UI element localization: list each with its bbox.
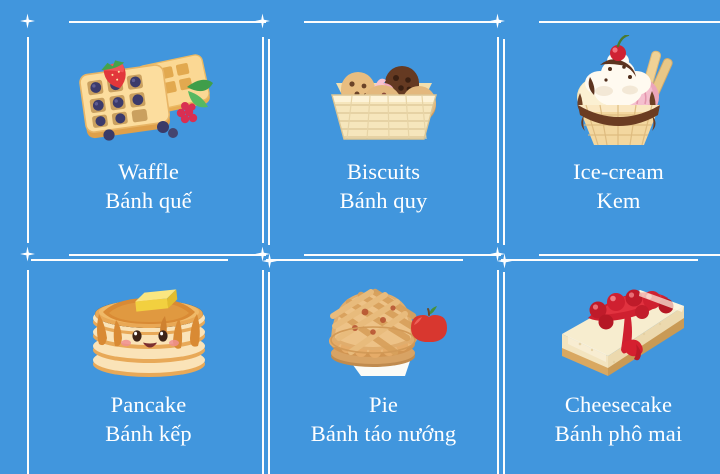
label-en: Ice-cream — [573, 158, 664, 187]
waffle-illustration — [69, 35, 229, 147]
label-vi: Bánh phô mai — [555, 420, 682, 449]
flashcard-ice-cream[interactable]: Ice-cream Kem — [497, 21, 720, 261]
label-en: Biscuits — [340, 158, 428, 187]
label-vi: Bánh quế — [105, 187, 191, 216]
cheesecake-slice-illustration — [544, 268, 694, 380]
card-labels: Cheesecake Bánh phô mai — [555, 391, 682, 449]
biscuits-basket-illustration — [314, 35, 454, 147]
flashcard-board: Waffle Bánh quế — [0, 0, 720, 474]
label-vi: Kem — [573, 187, 664, 216]
card-labels: Pie Bánh táo nướng — [311, 391, 456, 449]
card-labels: Waffle Bánh quế — [105, 158, 191, 216]
card-labels: Biscuits Bánh quy — [340, 158, 428, 216]
pancake-stack-illustration — [79, 268, 219, 380]
flashcard-pie[interactable]: Pie Bánh táo nướng — [262, 254, 505, 474]
label-en: Pancake — [105, 391, 191, 420]
card-labels: Ice-cream Kem — [573, 158, 664, 216]
flashcard-cheesecake[interactable]: Cheesecake Bánh phô mai — [497, 254, 720, 474]
label-vi: Bánh kếp — [105, 420, 191, 449]
label-vi: Bánh quy — [340, 187, 428, 216]
label-en: Cheesecake — [555, 391, 682, 420]
label-vi: Bánh táo nướng — [311, 420, 456, 449]
flashcard-waffle[interactable]: Waffle Bánh quế — [27, 21, 270, 261]
flashcard-pancake[interactable]: Pancake Bánh kếp — [27, 254, 270, 474]
ice-cream-sundae-illustration — [560, 35, 678, 147]
label-en: Waffle — [105, 158, 191, 187]
flashcard-biscuits[interactable]: Biscuits Bánh quy — [262, 21, 505, 261]
apple-pie-illustration — [309, 268, 459, 380]
label-en: Pie — [311, 391, 456, 420]
card-labels: Pancake Bánh kếp — [105, 391, 191, 449]
